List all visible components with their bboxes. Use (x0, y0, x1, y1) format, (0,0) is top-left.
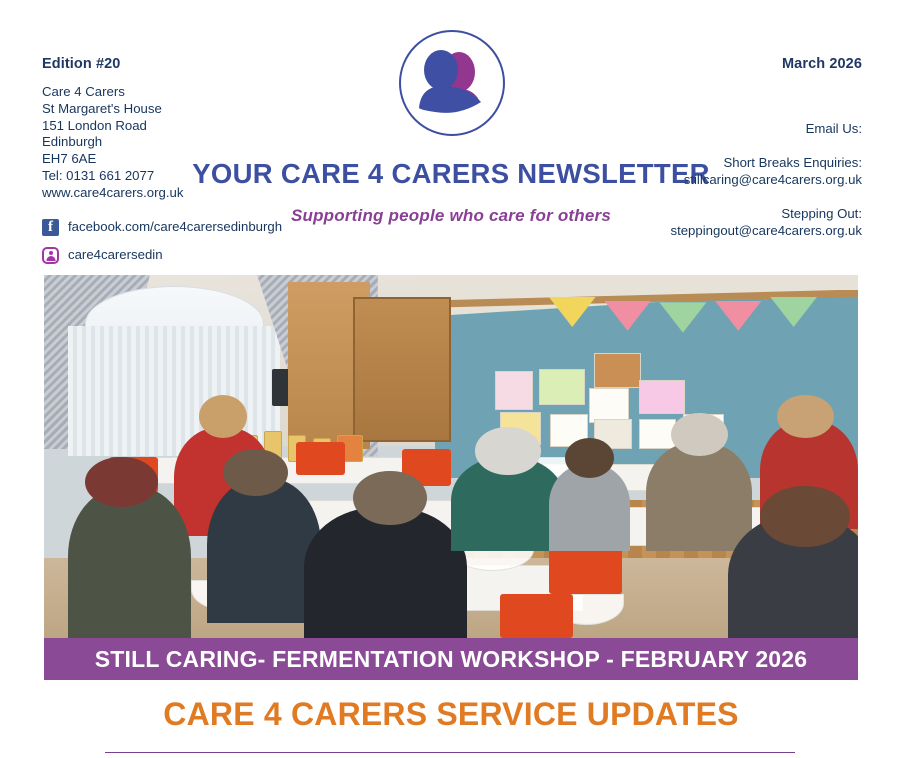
logo-figures-icon (401, 32, 503, 134)
participant-head (353, 471, 426, 525)
address-line-postcode: EH7 6AE (42, 151, 183, 168)
hall-door (353, 297, 451, 442)
photo-caption-band: STILL CARING- FERMENTATION WORKSHOP - FE… (44, 638, 858, 680)
participant-head (565, 438, 614, 478)
noticeboard-poster (639, 380, 685, 415)
facebook-icon (42, 219, 59, 236)
noticeboard-poster (495, 371, 533, 410)
facebook-handle: facebook.com/care4carersedinburgh (68, 220, 282, 233)
address-line-street: 151 London Road (42, 118, 183, 135)
bunting-flag-g (549, 297, 596, 327)
instagram-icon (42, 247, 59, 264)
contact-emails: Email Us: Short Breaks Enquiries: stillc… (670, 120, 862, 239)
organisation-address: Care 4 Carers St Margaret's House 151 Lo… (42, 84, 183, 202)
address-line-org: Care 4 Carers (42, 84, 183, 101)
bunting-flag-l (715, 301, 762, 331)
social-links: facebook.com/care4carersedinburgh care4c… (42, 216, 282, 272)
participant-head (777, 395, 834, 439)
photo-scene (44, 275, 858, 638)
address-line-building: St Margaret's House (42, 101, 183, 118)
participant-head (671, 413, 728, 457)
participant-foreground-head (760, 486, 850, 548)
short-breaks-email[interactable]: stillcaring@care4carers.org.uk (670, 171, 862, 188)
stepping-out-email[interactable]: steppingout@care4carers.org.uk (670, 222, 862, 239)
participant (68, 486, 190, 638)
edition-number: Edition #20 (42, 56, 120, 72)
email-us-label: Email Us: (670, 120, 862, 137)
bunting-flag-i (659, 302, 706, 332)
logo-circle (399, 30, 505, 136)
noticeboard-poster (539, 369, 585, 406)
orange-chair (500, 594, 573, 638)
guild-bunting (549, 297, 826, 344)
address-line-phone: Tel: 0131 661 2077 (42, 168, 183, 185)
participant (304, 507, 467, 638)
address-line-city: Edinburgh (42, 134, 183, 151)
stepping-out-label: Stepping Out: (670, 205, 862, 222)
newsletter-header: Edition #20 March 2026 Care 4 Carers St … (0, 0, 902, 262)
section-divider (105, 752, 795, 753)
participant (646, 442, 752, 551)
instagram-handle: care4carersedin (68, 248, 163, 261)
social-link-facebook[interactable]: facebook.com/care4carersedinburgh (42, 216, 282, 238)
feature-photo (44, 275, 858, 638)
photo-caption: STILL CARING- FERMENTATION WORKSHOP - FE… (95, 646, 808, 673)
feature-photo-block: STILL CARING- FERMENTATION WORKSHOP - FE… (44, 275, 858, 680)
participant-head (85, 457, 158, 508)
issue-date: March 2026 (782, 56, 862, 72)
noticeboard-poster (589, 388, 630, 423)
email-spacer-1 (670, 137, 862, 154)
bunting-flag-u (604, 301, 651, 331)
social-link-instagram[interactable]: care4carersedin (42, 244, 282, 266)
service-updates-heading: CARE 4 CARERS SERVICE UPDATES (0, 696, 902, 733)
bunting-flag-d (770, 297, 817, 327)
address-line-website[interactable]: www.care4carers.org.uk (42, 185, 183, 202)
short-breaks-label: Short Breaks Enquiries: (670, 154, 862, 171)
noticeboard-poster (594, 353, 640, 388)
email-spacer-2 (670, 188, 862, 205)
care4carers-logo (399, 30, 505, 136)
orange-chair (296, 442, 345, 475)
participant-head (475, 427, 540, 474)
